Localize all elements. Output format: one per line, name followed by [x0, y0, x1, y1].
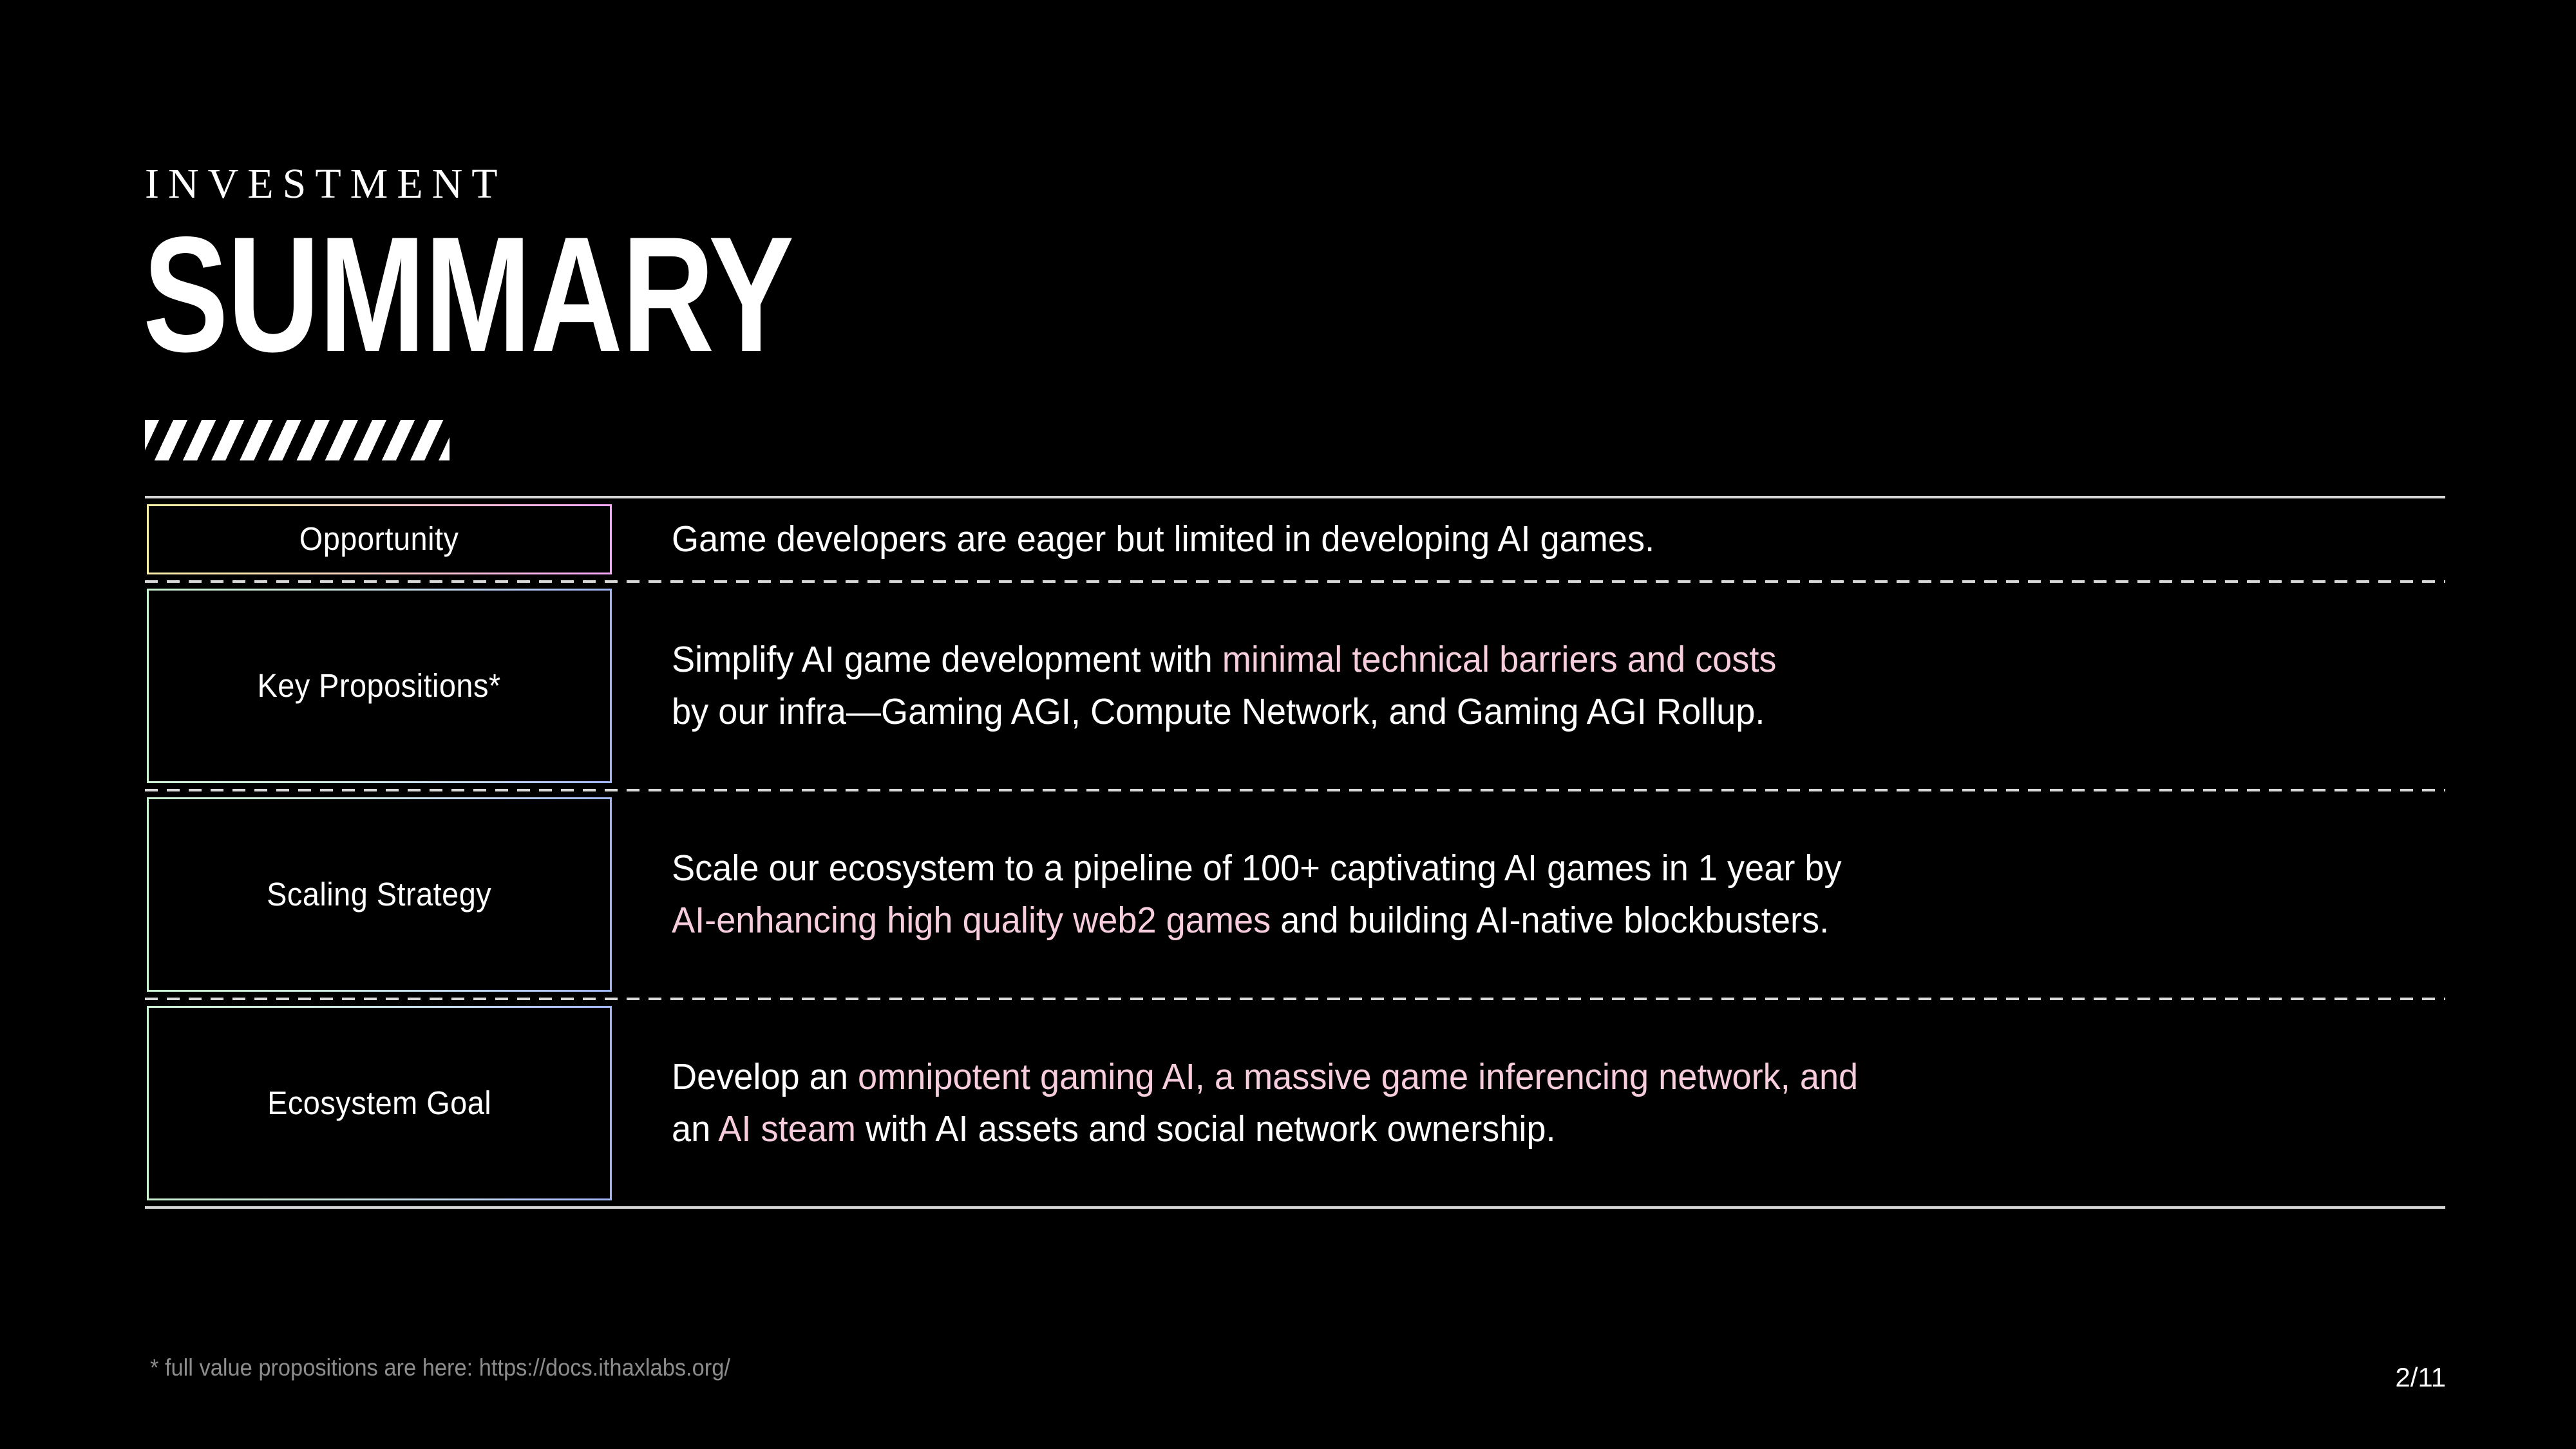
body-segment: Simplify AI game development with — [672, 639, 1222, 680]
body-line: by our infra—Gaming AGI, Compute Network… — [672, 686, 2356, 738]
body-line: Game developers are eager but limited in… — [672, 513, 2356, 565]
body-line: Develop an omnipotent gaming AI, a massi… — [672, 1051, 2356, 1103]
label-box-key-propositions: Key Propositions* — [147, 589, 612, 783]
table-row-body-cell: Scale our ecosystem to a pipeline of 100… — [612, 791, 2445, 998]
body-segment: and building AI-native blockbusters. — [1271, 900, 1829, 941]
body-segment: Scale our ecosystem to a pipeline of 100… — [672, 848, 1842, 889]
table-row-label: Scaling Strategy — [267, 876, 491, 913]
body-line: Simplify AI game development with minima… — [672, 634, 2356, 686]
label-box-opportunity: Opportunity — [147, 504, 612, 574]
table-row-label: Ecosystem Goal — [267, 1085, 491, 1121]
table-row-label: Key Propositions* — [258, 668, 501, 704]
body-segment-highlight: AI steam — [718, 1108, 856, 1150]
body-segment: Develop an — [672, 1056, 858, 1097]
table-row[interactable]: Scaling Strategy Scale our ecosystem to … — [145, 791, 2445, 998]
label-box-ecosystem-goal: Ecosystem Goal — [147, 1006, 612, 1200]
eyebrow-label: INVESTMENT — [145, 163, 507, 205]
table-row-label-cell: Ecosystem Goal — [145, 1000, 612, 1206]
table-row-label-cell: Opportunity — [145, 498, 612, 580]
footnote[interactable]: * full value propositions are here: http… — [150, 1356, 730, 1379]
table-row[interactable]: Key Propositions* Simplify AI game devel… — [145, 583, 2445, 789]
page-title: SUMMARY — [143, 213, 793, 377]
table-row-label: Opportunity — [299, 521, 459, 557]
body-segment-highlight: minimal technical barriers and costs — [1222, 639, 1777, 680]
table-row-body-cell: Develop an omnipotent gaming AI, a massi… — [612, 1000, 2445, 1206]
body-segment: by our infra—Gaming AGI, Compute Network… — [672, 691, 1765, 732]
label-box-scaling-strategy: Scaling Strategy — [147, 797, 612, 992]
table-row-label-cell: Scaling Strategy — [145, 791, 612, 998]
body-line: AI-enhancing high quality web2 games and… — [672, 895, 2356, 947]
page-number: 2/11 — [2395, 1364, 2446, 1391]
hatch-decoration-icon — [145, 420, 450, 460]
body-segment: Game developers are eager but limited in… — [672, 518, 1654, 560]
slide-root: INVESTMENT SUMMARY Opportunity Game deve… — [0, 0, 2576, 1449]
body-segment-highlight: omnipotent gaming AI, a massive game inf… — [858, 1056, 1858, 1097]
body-line: an AI steam with AI assets and social ne… — [672, 1103, 2356, 1155]
table-bottom-rule — [145, 1206, 2445, 1209]
body-line: Scale our ecosystem to a pipeline of 100… — [672, 842, 2356, 895]
table-row[interactable]: Ecosystem Goal Develop an omnipotent gam… — [145, 1000, 2445, 1206]
body-segment: with AI assets and social network owners… — [856, 1108, 1556, 1150]
table-row-body-cell: Game developers are eager but limited in… — [612, 498, 2445, 580]
table-row-label-cell: Key Propositions* — [145, 583, 612, 789]
table-row[interactable]: Opportunity Game developers are eager bu… — [145, 498, 2445, 580]
summary-table: Opportunity Game developers are eager bu… — [145, 496, 2445, 1209]
table-row-body-cell: Simplify AI game development with minima… — [612, 583, 2445, 789]
body-segment: an — [672, 1108, 718, 1150]
body-segment-highlight: AI-enhancing high quality web2 games — [672, 900, 1271, 941]
